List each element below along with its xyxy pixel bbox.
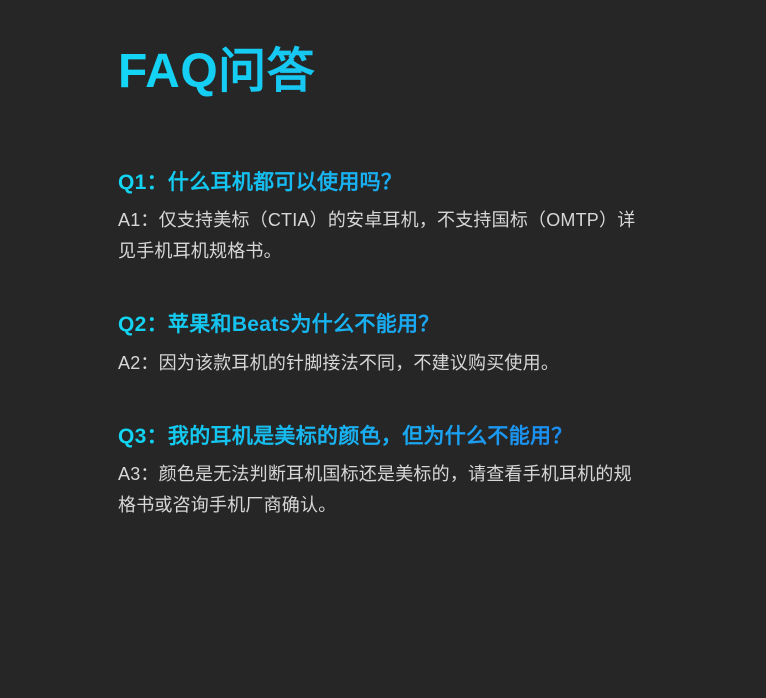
page-title: FAQ问答 <box>118 0 648 101</box>
faq-item: Q2：苹果和Beats为什么不能用？ A2：因为该款耳机的针脚接法不同，不建议购… <box>118 309 648 379</box>
faq-item: Q1：什么耳机都可以使用吗？ A1：仅支持美标（CTIA）的安卓耳机，不支持国标… <box>118 167 648 267</box>
faq-answer: A1：仅支持美标（CTIA）的安卓耳机，不支持国标（OMTP）详见手机耳机规格书… <box>118 205 648 267</box>
faq-page: FAQ问答 Q1：什么耳机都可以使用吗？ A1：仅支持美标（CTIA）的安卓耳机… <box>0 0 766 698</box>
faq-list: Q1：什么耳机都可以使用吗？ A1：仅支持美标（CTIA）的安卓耳机，不支持国标… <box>118 101 648 521</box>
faq-item: Q3：我的耳机是美标的颜色，但为什么不能用？ A3：颜色是无法判断耳机国标还是美… <box>118 421 648 521</box>
faq-question: Q3：我的耳机是美标的颜色，但为什么不能用？ <box>118 421 648 454</box>
faq-question: Q1：什么耳机都可以使用吗？ <box>118 167 648 200</box>
faq-answer: A3：颜色是无法判断耳机国标还是美标的，请查看手机耳机的规格书或咨询手机厂商确认… <box>118 459 648 521</box>
faq-question: Q2：苹果和Beats为什么不能用？ <box>118 309 648 342</box>
faq-answer: A2：因为该款耳机的针脚接法不同，不建议购买使用。 <box>118 348 648 379</box>
